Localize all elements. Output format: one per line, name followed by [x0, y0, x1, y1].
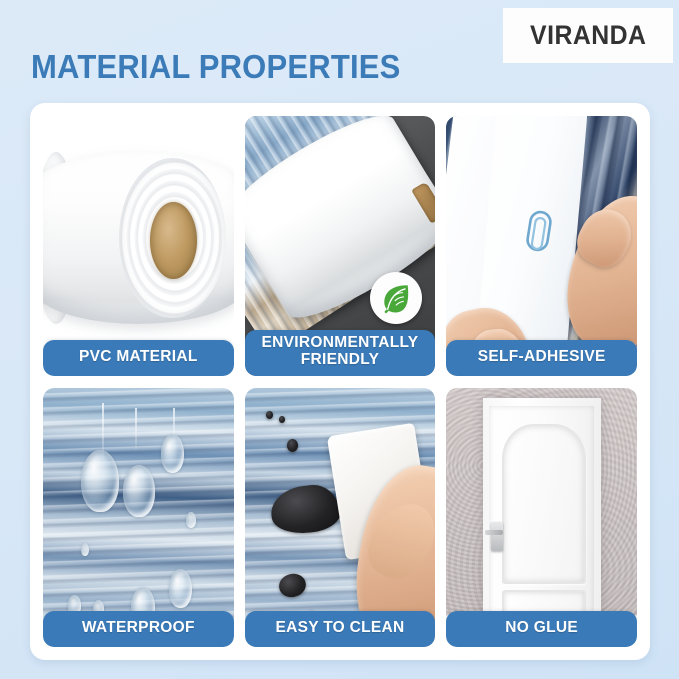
feature-label-waterproof: WATERPROOF — [43, 611, 234, 647]
label-line-2: FRIENDLY — [301, 351, 379, 368]
features-grid: PVC MATERIAL ENVIRONME — [43, 116, 637, 647]
feature-label-environmentally-friendly: ENVIRONMENTALLY FRIENDLY — [245, 330, 436, 375]
feature-label-self-adhesive: SELF-ADHESIVE — [446, 340, 637, 376]
feature-label-easy-to-clean: EASY TO CLEAN — [245, 611, 436, 647]
feature-cell-self-adhesive[interactable]: SELF-ADHESIVE — [446, 116, 637, 376]
pvc-roll-image — [43, 116, 234, 376]
green-leaf-icon — [370, 272, 422, 324]
feature-cell-pvc-material[interactable]: PVC MATERIAL — [43, 116, 234, 376]
feature-cell-easy-to-clean[interactable]: EASY TO CLEAN — [245, 388, 436, 648]
brand-logo: VIRANDA — [503, 8, 673, 63]
feature-cell-environmentally-friendly[interactable]: ENVIRONMENTALLY FRIENDLY — [245, 116, 436, 376]
feature-label-no-glue: NO GLUE — [446, 611, 637, 647]
feature-label-pvc-material: PVC MATERIAL — [43, 340, 234, 376]
page-header: MATERIAL PROPERTIES VIRANDA — [0, 0, 679, 103]
brand-logo-text: VIRANDA — [530, 20, 646, 51]
easy-to-clean-image — [245, 388, 436, 648]
feature-cell-no-glue[interactable]: NO GLUE — [446, 388, 637, 648]
features-card: PVC MATERIAL ENVIRONME — [30, 103, 650, 660]
feature-cell-waterproof[interactable]: WATERPROOF — [43, 388, 234, 648]
page-title: MATERIAL PROPERTIES — [31, 48, 401, 86]
label-line-1: ENVIRONMENTALLY — [262, 334, 419, 351]
waterproof-image — [43, 388, 234, 648]
self-adhesive-image — [446, 116, 637, 376]
no-glue-door-image — [446, 388, 637, 648]
